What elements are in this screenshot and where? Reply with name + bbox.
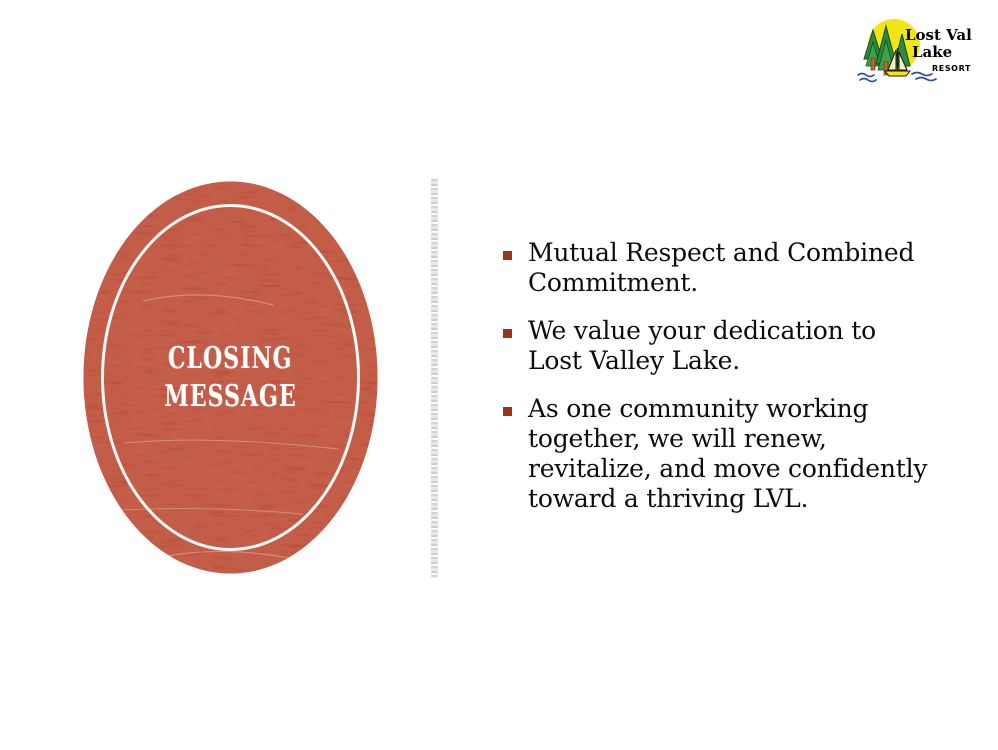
- vertical-divider: [431, 177, 438, 578]
- bullet-square-icon: [503, 251, 512, 260]
- logo-text-line1: Lost Valley: [905, 26, 972, 44]
- list-item: We value your dedication to Lost Valley …: [503, 316, 933, 376]
- list-item: Mutual Respect and Combined Commitment.: [503, 238, 933, 298]
- lost-valley-lake-resort-logo: Lost Valley Lake RESORT: [852, 14, 972, 84]
- bullet-square-icon: [503, 329, 512, 338]
- closing-message-badge: CLOSING MESSAGE: [83, 181, 378, 574]
- slide-canvas: Lost Valley Lake RESORT: [0, 0, 998, 750]
- list-item-text: Mutual Respect and Combined Commitment.: [528, 238, 933, 298]
- logo-text-line3: RESORT: [932, 64, 971, 73]
- list-item: As one community working together, we wi…: [503, 394, 933, 514]
- list-item-text: As one community working together, we wi…: [528, 394, 933, 514]
- bullet-list: Mutual Respect and Combined Commitment. …: [503, 238, 933, 532]
- bullet-square-icon: [503, 407, 512, 416]
- logo-text-line2: Lake: [912, 43, 952, 61]
- list-item-text: We value your dedication to Lost Valley …: [528, 316, 933, 376]
